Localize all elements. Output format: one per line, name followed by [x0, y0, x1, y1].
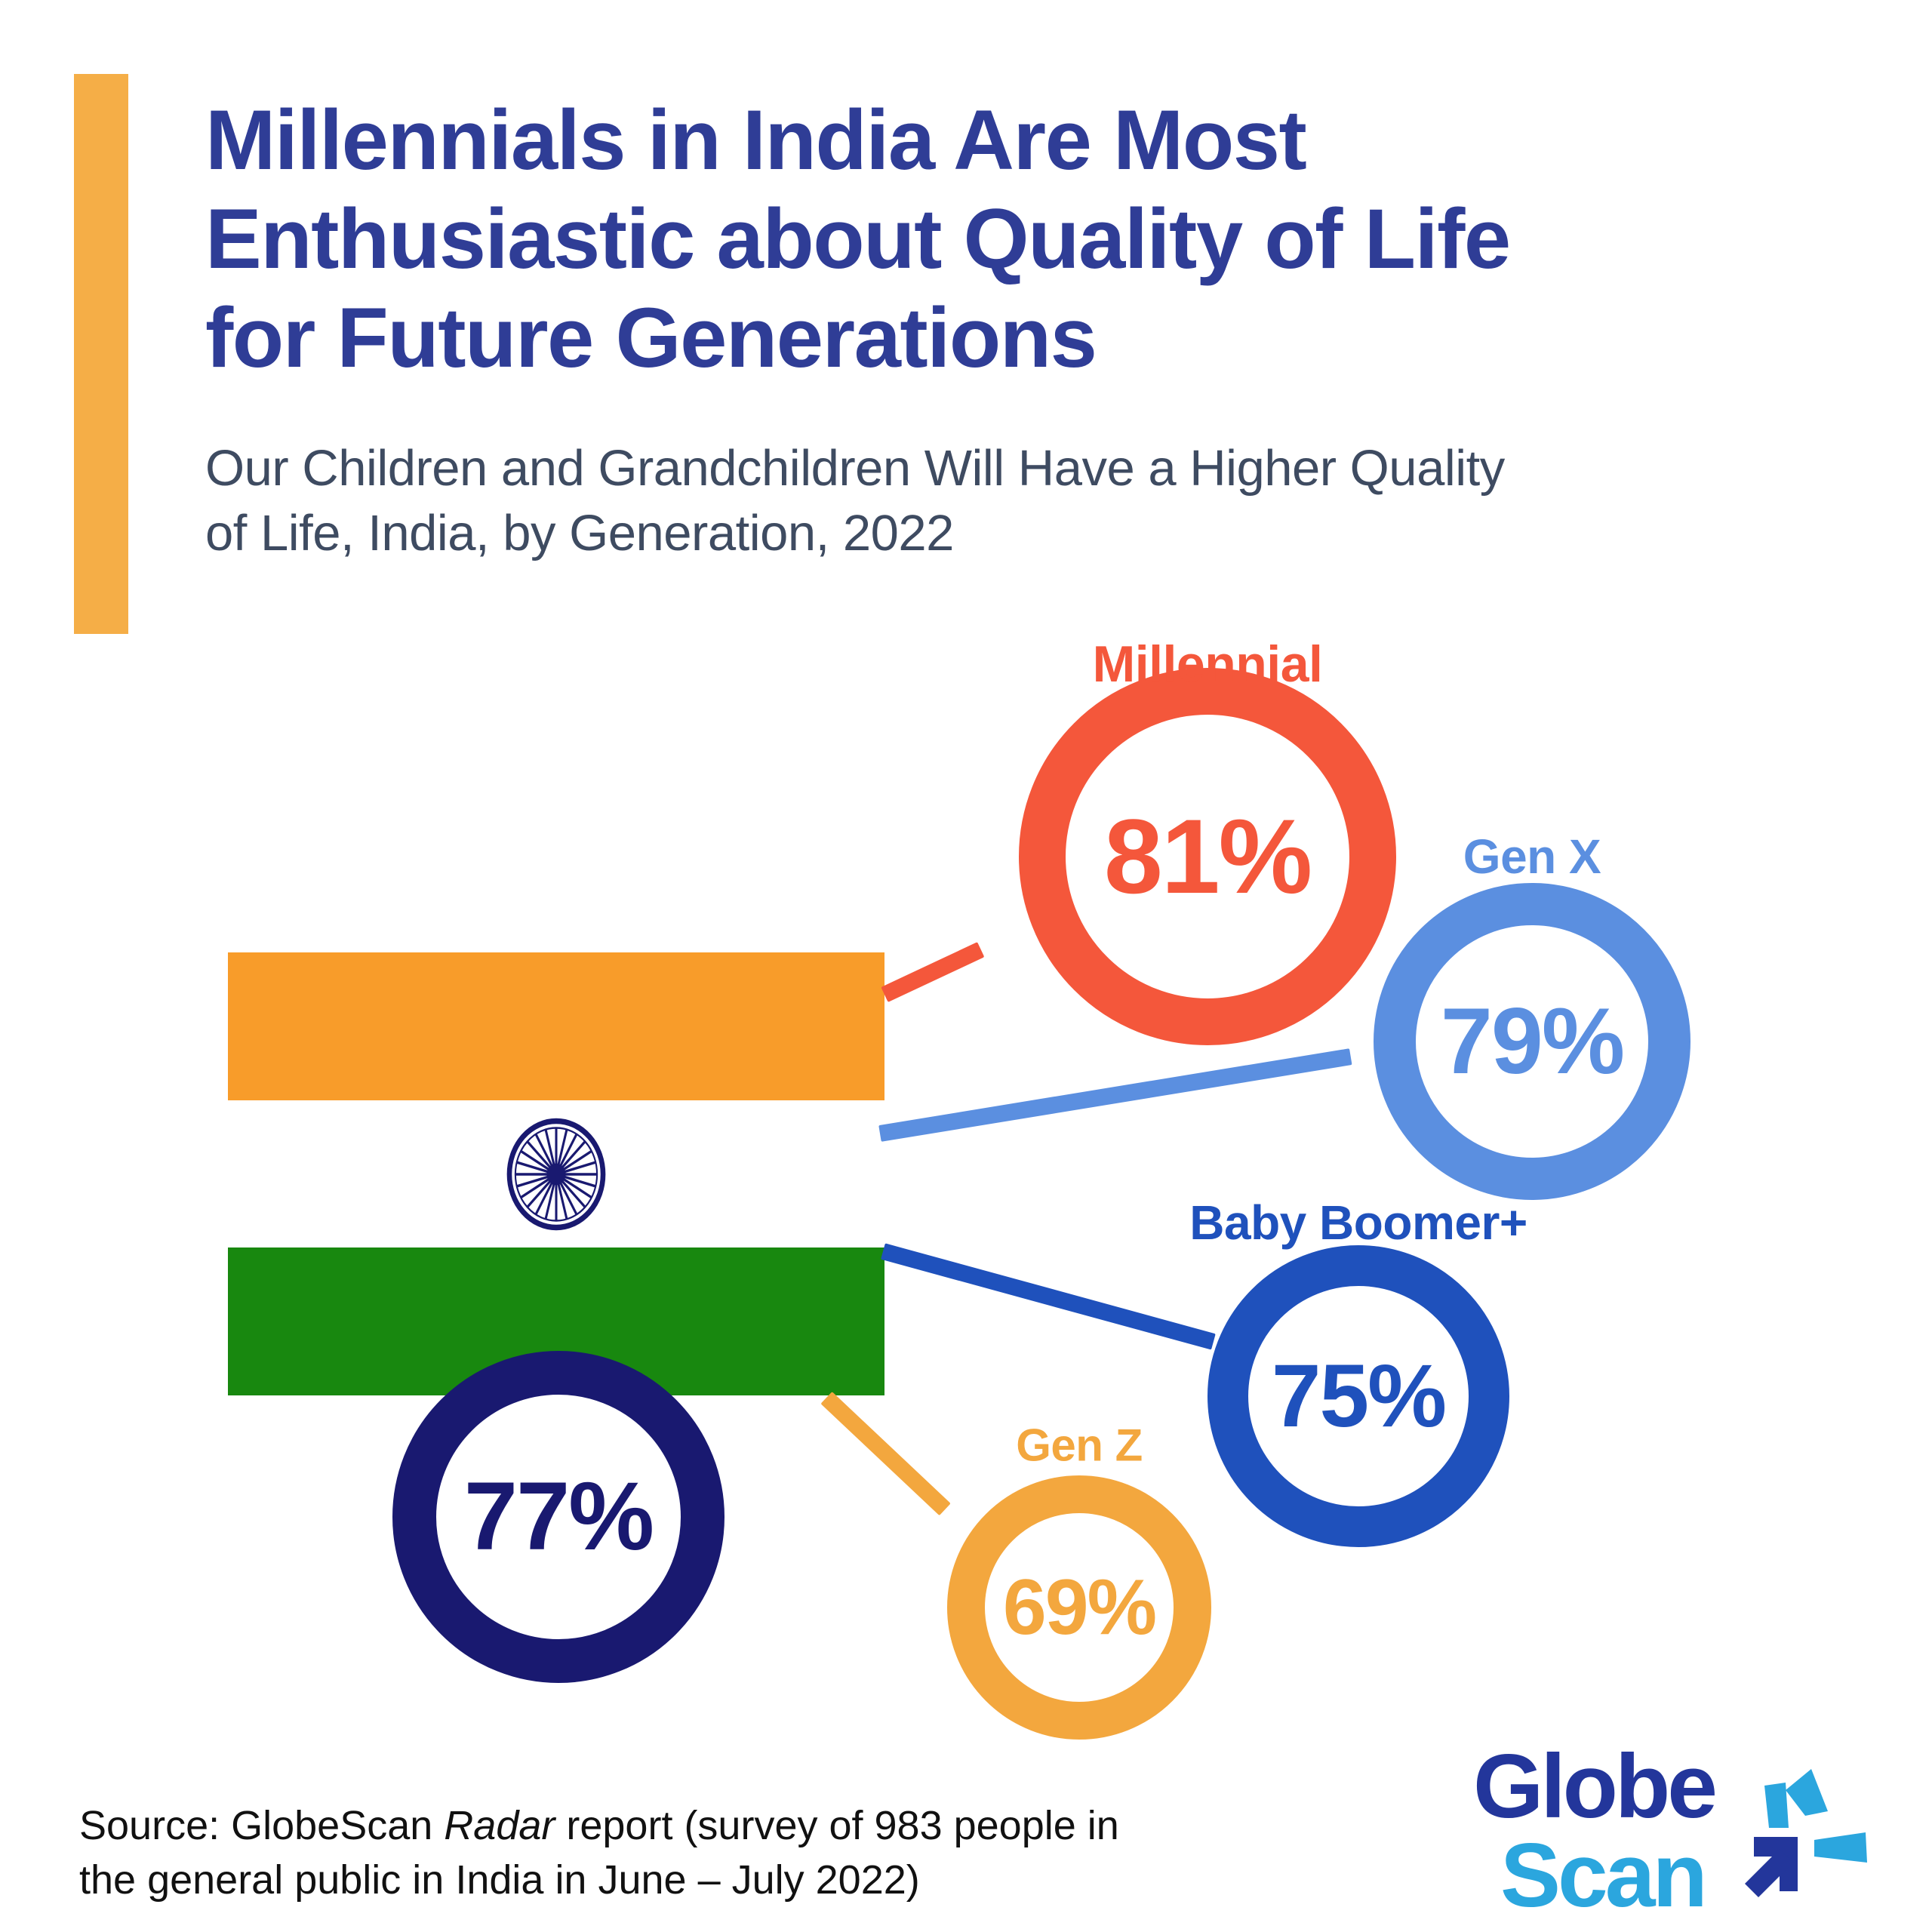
donut-value-babyboomer: 75% — [1272, 1352, 1445, 1441]
donut-value-genx: 79% — [1441, 995, 1623, 1088]
flag-band-saffron — [228, 952, 884, 1100]
infographic-canvas: Millennials in India Are Most Enthusiast… — [0, 0, 1932, 1932]
donut-label-millennial: Millennial — [1093, 635, 1323, 694]
page-title-line-3: for Future Generations — [205, 288, 1639, 387]
donut-genz: 69% — [947, 1475, 1211, 1740]
page-title-line-1: Millennials in India Are Most — [205, 91, 1639, 189]
source-note: Source: GlobeScan Radar report (survey o… — [79, 1799, 1174, 1908]
donut-genx: 79% — [1374, 883, 1690, 1200]
donut-babyboomer: 75% — [1207, 1245, 1509, 1547]
page-subtitle-line-1: Our Children and Grandchildren Will Have… — [205, 436, 1730, 501]
donut-value-total: 77% — [464, 1469, 653, 1565]
source-prefix: Source: GlobeScan — [79, 1803, 444, 1848]
source-report-name: Radar — [444, 1803, 555, 1848]
leader-line-babyboomer — [881, 1243, 1216, 1349]
donut-millennial: 81% — [1019, 668, 1396, 1045]
donut-value-genz: 69% — [1003, 1568, 1155, 1647]
logo-wordmark-scan: Scan — [1500, 1825, 1705, 1924]
leader-line-genx — [878, 1048, 1352, 1142]
donut-label-genz: Gen Z — [1016, 1420, 1143, 1472]
donut-total: 77% — [392, 1351, 724, 1683]
india-flag — [228, 952, 884, 1395]
page-subtitle-line-2: of Life, India, by Generation, 2022 — [205, 501, 1730, 566]
page-title: Millennials in India Are Most Enthusiast… — [205, 91, 1639, 387]
leader-line-genz — [820, 1392, 950, 1515]
accent-bar — [74, 74, 128, 634]
donut-value-millennial: 81% — [1104, 804, 1311, 909]
globescan-logo[interactable]: Globe Scan — [1473, 1736, 1881, 1924]
donut-label-genx: Gen X — [1463, 829, 1601, 884]
donut-label-babyboomer: Baby Boomer+ — [1189, 1195, 1527, 1251]
ashoka-chakra-icon — [506, 1118, 606, 1231]
logo-wordmark-globe: Globe — [1473, 1736, 1715, 1837]
arrow-burst-icon — [1745, 1769, 1867, 1897]
page-subtitle: Our Children and Grandchildren Will Have… — [205, 436, 1730, 566]
globescan-logo-svg: Globe Scan — [1473, 1736, 1881, 1924]
page-title-line-2: Enthusiastic about Quality of Life — [205, 189, 1639, 288]
leader-line-millennial — [881, 942, 984, 1002]
